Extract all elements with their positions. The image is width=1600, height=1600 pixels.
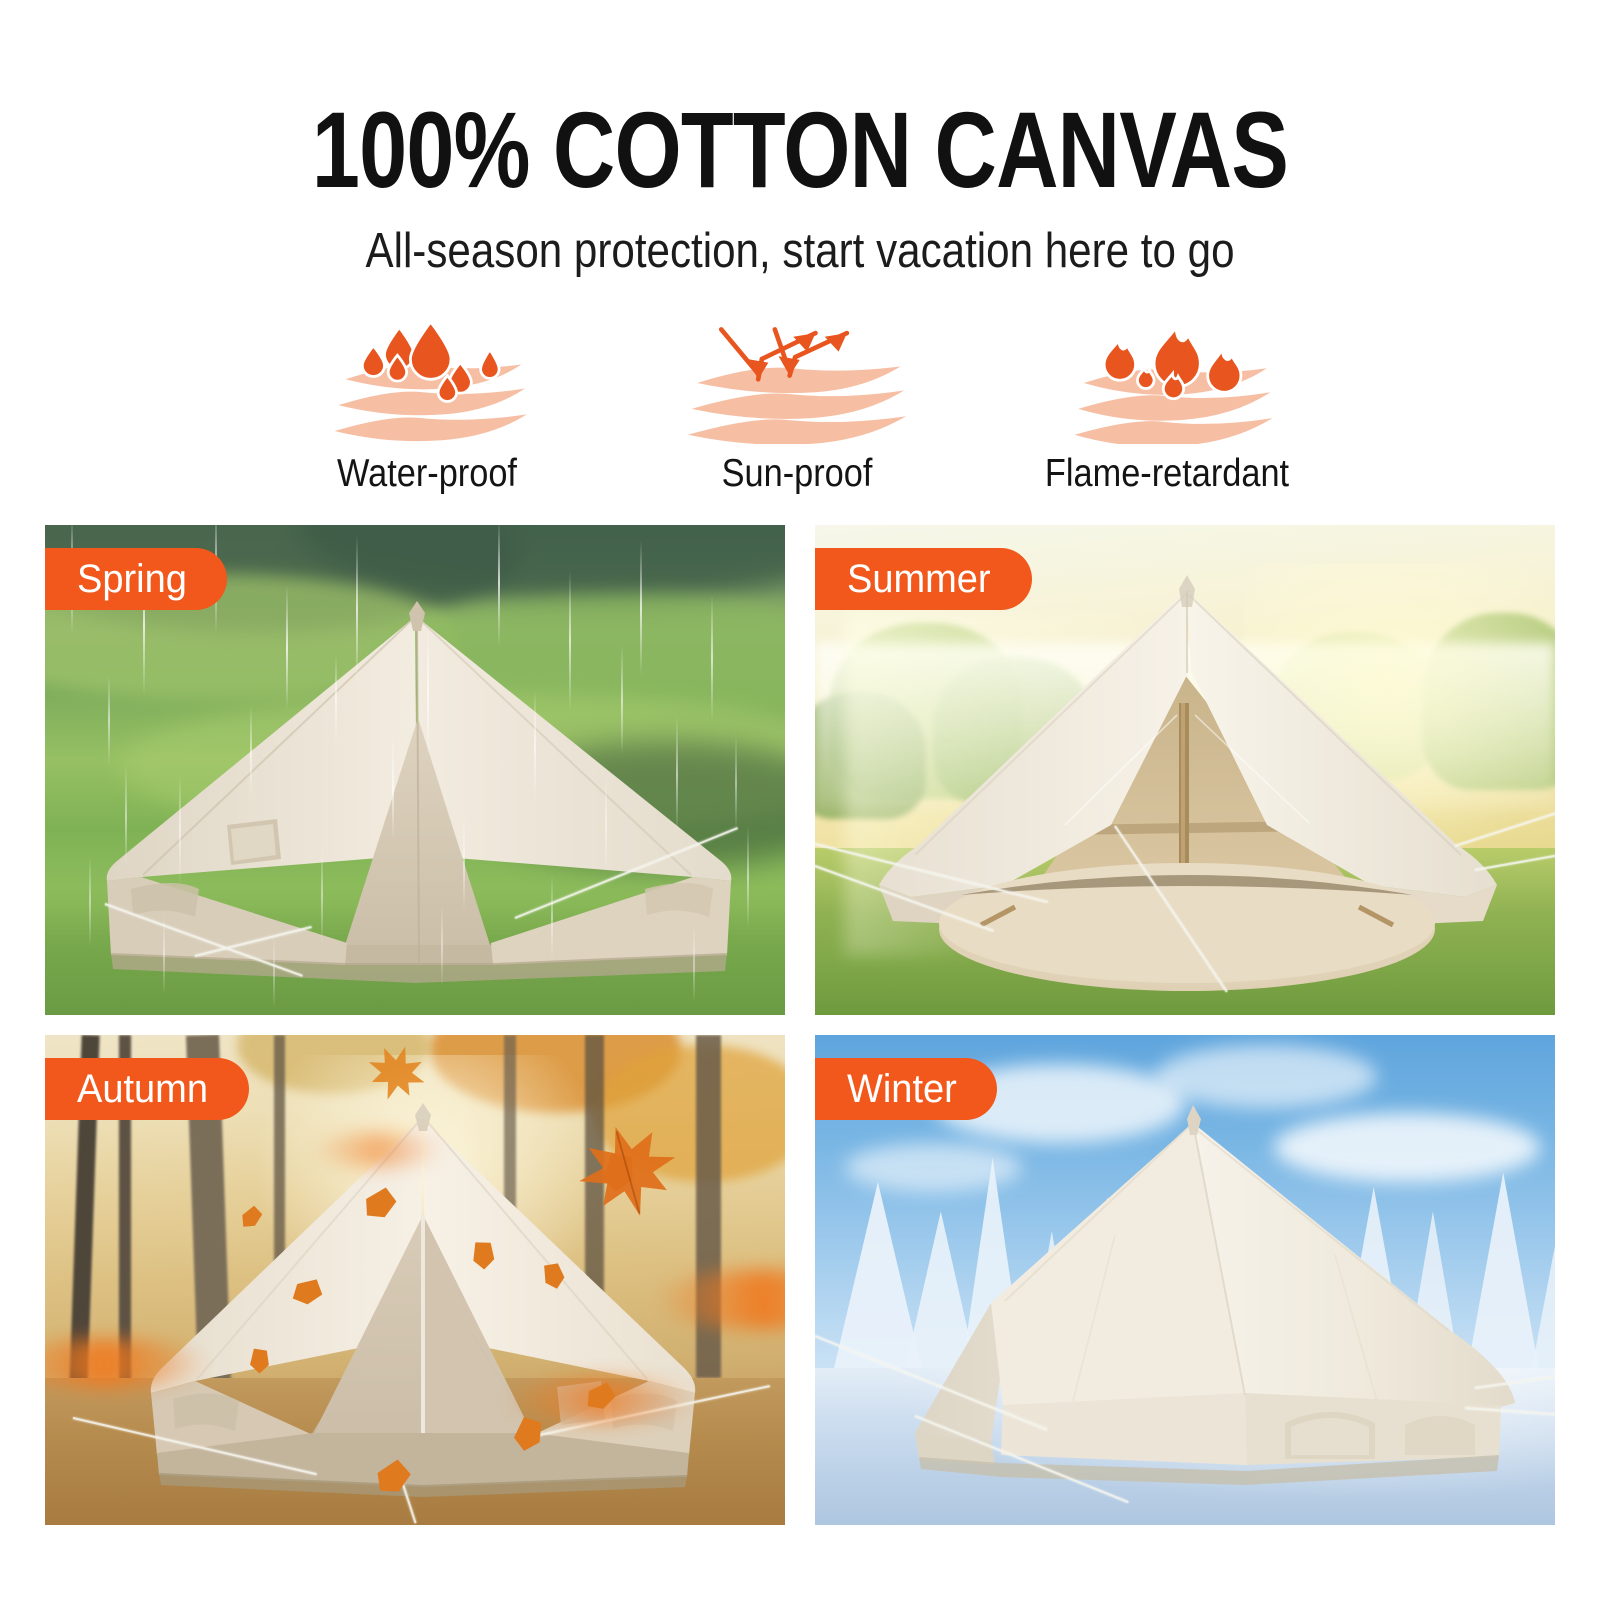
season-badge-summer: Summer <box>815 548 1032 610</box>
page-subtitle: All-season protection, start vacation he… <box>112 225 1488 279</box>
season-badge-autumn: Autumn <box>45 1058 249 1120</box>
water-droplets-on-fabric-layers-icon <box>297 322 557 444</box>
feature-label: Sun-proof <box>652 452 942 496</box>
feature-sun-proof: Sun-proof <box>632 322 962 496</box>
season-photo-grid: VEVOR Spring <box>45 525 1555 1553</box>
feature-flame-retardant: Flame-retardant <box>1002 322 1332 496</box>
product-infographic: 100% COTTON CANVAS All-season protection… <box>0 0 1600 1600</box>
season-card-summer[interactable]: VEVOR Summer <box>815 525 1555 1015</box>
flames-on-fabric-layers-icon <box>1037 322 1297 444</box>
season-card-autumn[interactable]: VEVOR Autumn <box>45 1035 785 1525</box>
feature-label: Water-proof <box>282 452 572 496</box>
season-badge-winter: Winter <box>815 1058 997 1120</box>
sun-rays-reflecting-off-fabric-layers-icon <box>667 322 927 444</box>
season-badge-spring: Spring <box>45 548 227 610</box>
season-card-spring[interactable]: VEVOR Spring <box>45 525 785 1015</box>
feature-row: Water-proof <box>0 322 1600 502</box>
page-title: 100% COTTON CANVAS <box>160 96 1440 204</box>
season-card-winter[interactable]: VEVOR Winter <box>815 1035 1555 1525</box>
feature-water-proof: Water-proof <box>262 322 592 496</box>
feature-label: Flame-retardant <box>1022 452 1312 496</box>
